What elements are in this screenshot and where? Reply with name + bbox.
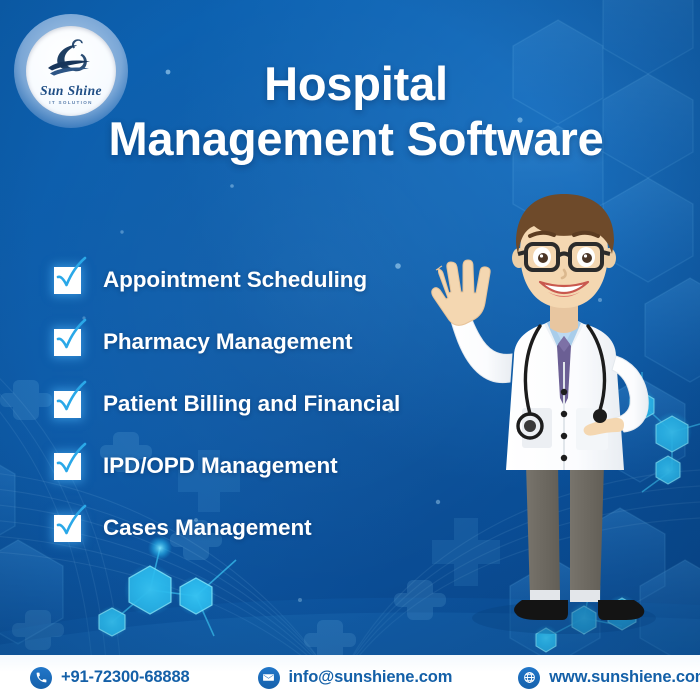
contact-footer: +91-72300-68888 info@sunshiene.com www.s… (0, 655, 700, 700)
footer-email[interactable]: info@sunshiene.com (258, 667, 453, 689)
list-item[interactable]: Patient Billing and Financial (54, 382, 474, 426)
promo-banner: Sun Shine IT SOLUTION Hospital Managemen… (0, 0, 700, 700)
footer-website[interactable]: www.sunshiene.com (518, 667, 700, 689)
list-item[interactable]: Cases Management (54, 506, 474, 550)
checkbox-checked-icon (54, 391, 81, 418)
title-line-2: Management Software (96, 111, 616, 166)
checkbox-checked-icon (54, 453, 81, 480)
list-item[interactable]: IPD/OPD Management (54, 444, 474, 488)
globe-icon (518, 667, 540, 689)
logo-tagline-text: IT SOLUTION (49, 100, 92, 105)
envelope-icon (258, 667, 280, 689)
phone-icon (30, 667, 52, 689)
feature-label: Pharmacy Management (103, 329, 352, 355)
checkbox-checked-icon (54, 515, 81, 542)
page-title: Hospital Management Software (96, 56, 616, 167)
checkbox-checked-icon (54, 267, 81, 294)
checkbox-checked-icon (54, 329, 81, 356)
feature-label: IPD/OPD Management (103, 453, 338, 479)
feature-label: Cases Management (103, 515, 311, 541)
waving-doctor-illustration (418, 186, 700, 658)
footer-email-text: info@sunshiene.com (289, 668, 453, 687)
footer-website-text: www.sunshiene.com (549, 668, 700, 687)
footer-phone[interactable]: +91-72300-68888 (30, 667, 190, 689)
logo-name-text: Sun Shine (40, 84, 102, 98)
feature-list: Appointment Scheduling Pharmacy Manageme… (54, 258, 474, 550)
list-item[interactable]: Appointment Scheduling (54, 258, 474, 302)
title-line-1: Hospital (96, 56, 616, 111)
footer-phone-text: +91-72300-68888 (61, 668, 190, 687)
swan-s-monogram-icon (40, 39, 102, 83)
feature-label: Appointment Scheduling (103, 267, 367, 293)
list-item[interactable]: Pharmacy Management (54, 320, 474, 364)
feature-label: Patient Billing and Financial (103, 391, 400, 417)
